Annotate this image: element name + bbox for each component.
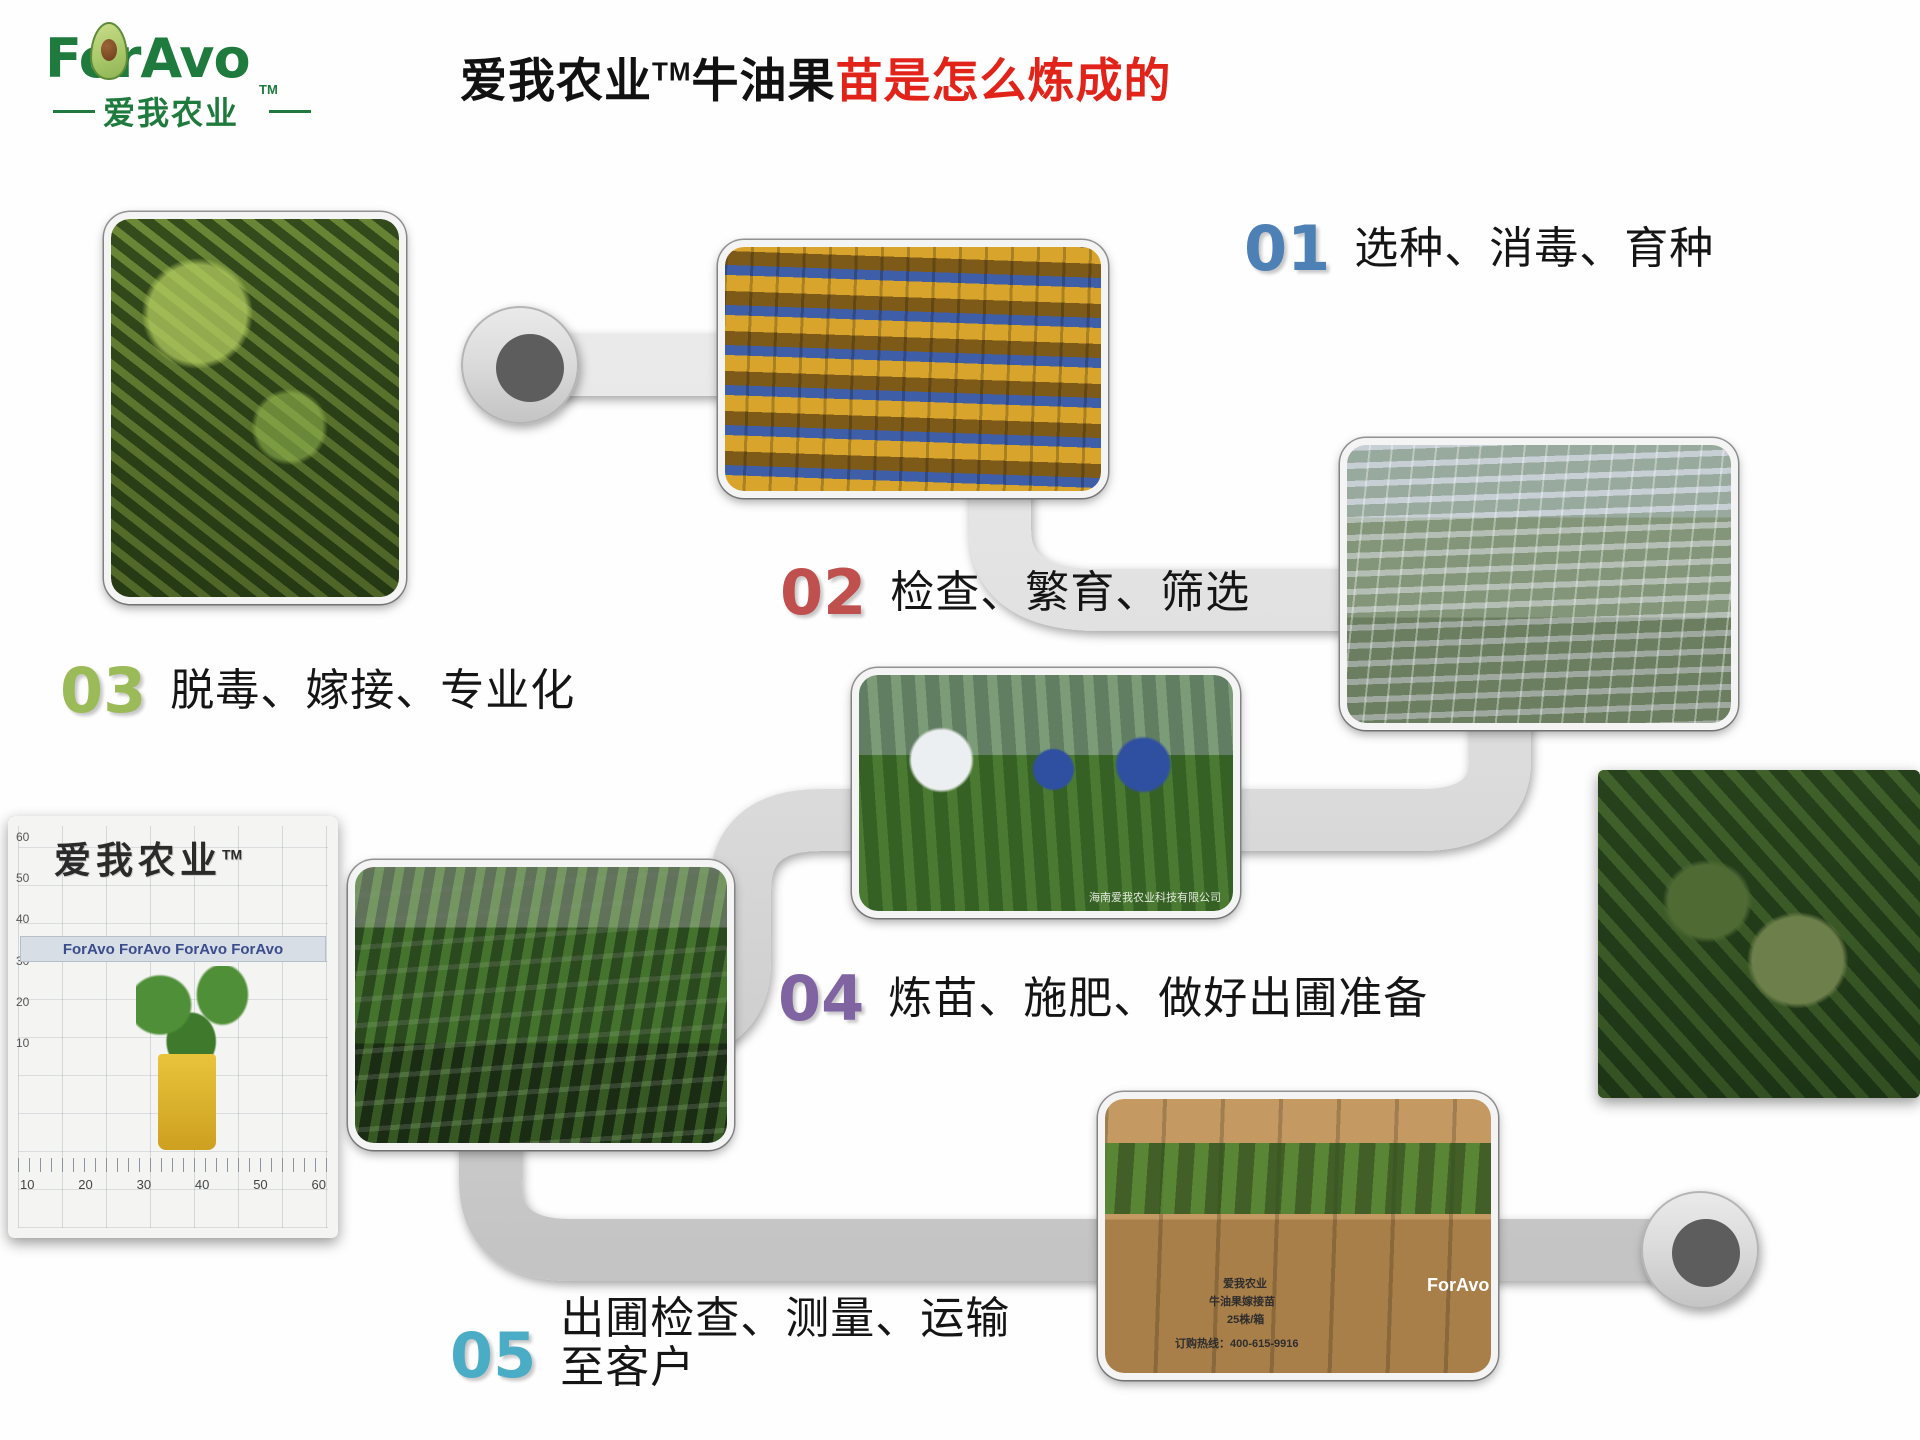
ruler-y-tick: 40 (16, 912, 29, 926)
step-01-number: 01 (1244, 218, 1330, 280)
page-title: 爱我农业TM牛油果苗是怎么炼成的 (460, 42, 1172, 111)
carton-brand-label: 爱我农业 (1223, 1275, 1267, 1291)
ruler-y-tick: 10 (16, 1036, 29, 1050)
potted-seedlings-nursery-photo (348, 860, 734, 1150)
measured-seedling-ruler-photo: 爱我农业TM 60 50 40 30 20 10 ForAvo ForAvo F… (8, 816, 338, 1238)
step-05-label-line2: 至客户 (560, 1343, 1010, 1392)
avocado-flower-branch-photo (104, 212, 406, 604)
avocado-fruit-on-tree-photo (1598, 770, 1920, 1098)
photo-surface (725, 247, 1101, 491)
title-part-mid: 牛油果 (692, 54, 836, 107)
ruler-x-tick: 50 (253, 1177, 267, 1192)
brand-logo: ForAvo 爱我农业 TM (45, 32, 315, 142)
ruler-x-tick: 60 (311, 1177, 325, 1192)
ruler-brand-text: 爱我农业TM (54, 830, 242, 884)
carton-product-label: 牛油果嫁接苗 (1209, 1293, 1275, 1309)
photo-surface (355, 867, 727, 1143)
ruler-y-tick: 50 (16, 871, 29, 885)
ruler-brand-tm: TM (222, 847, 242, 863)
logo-wordmark: ForAvo (45, 32, 250, 86)
title-trademark: TM (652, 56, 692, 86)
photo-surface (1598, 770, 1920, 1098)
ruler-y-tick: 20 (16, 995, 29, 1009)
step-04: 04 炼苗、施肥、做好出圃准备 (778, 968, 1428, 1030)
ruler-x-tick: 30 (137, 1177, 151, 1192)
logo-chinese-name: 爱我农业 (103, 88, 239, 134)
flow-end-dot (1672, 1219, 1740, 1287)
packed-cartons-shipping-photo: 爱我农业 牛油果嫁接苗 25株/箱 订购热线：400-615-9916 ForA… (1098, 1092, 1498, 1380)
step-05: 05 出圃检查、测量、运输 至客户 (450, 1288, 1010, 1393)
title-part-brand: 爱我农业 (460, 54, 652, 107)
ruler-tick-bar (18, 1158, 328, 1172)
step-01-label: 选种、消毒、育种 (1354, 218, 1714, 273)
logo-rule-left (53, 110, 95, 113)
photo-surface (1347, 445, 1731, 723)
ruler-brand-strip: ForAvo ForAvo ForAvo ForAvo (20, 936, 326, 962)
photo-surface: 海南爱我农业科技有限公司 (859, 675, 1233, 911)
step-05-label: 出圃检查、测量、运输 至客户 (560, 1288, 1010, 1393)
carton-foliage-band (1105, 1143, 1491, 1214)
step-02: 02 检查、繁育、筛选 (780, 562, 1250, 624)
step-05-number: 05 (450, 1325, 536, 1393)
carton-quantity-label: 25株/箱 (1227, 1311, 1264, 1327)
logo-trademark: TM (259, 82, 278, 97)
ruler-brand-label: 爱我农业 (54, 840, 222, 881)
logo-rule-right (269, 110, 311, 113)
photo-surface (111, 219, 399, 597)
title-part-highlight: 苗是怎么炼成的 (836, 54, 1172, 107)
step-04-label: 炼苗、施肥、做好出圃准备 (888, 968, 1428, 1023)
ruler-x-axis: 10 20 30 40 50 60 (20, 1177, 326, 1192)
carton-side-brand: ForAvo (1427, 1275, 1489, 1296)
greenhouse-grafting-bags-photo (1340, 438, 1738, 730)
step-03: 03 脱毒、嫁接、专业化 (60, 660, 575, 722)
infographic-canvas: ForAvo 爱我农业 TM 爱我农业TM牛油果苗是怎么炼成的 海南爱我农业科技… (0, 0, 1920, 1440)
ruler-x-tick: 40 (195, 1177, 209, 1192)
ruler-y-tick: 60 (16, 830, 29, 844)
step-03-number: 03 (60, 660, 146, 722)
photo-watermark: 海南爱我农业科技有限公司 (1089, 889, 1221, 905)
carton-hotline-label: 订购热线：400-615-9916 (1175, 1335, 1299, 1351)
seed-germination-trays-photo (718, 240, 1108, 498)
seedling-pot (158, 1054, 216, 1150)
step-04-number: 04 (778, 968, 864, 1030)
staff-inspecting-seedlings-photo: 海南爱我农业科技有限公司 (852, 668, 1240, 918)
ruler-x-tick: 10 (20, 1177, 34, 1192)
step-02-label: 检查、繁育、筛选 (890, 562, 1250, 617)
step-05-label-line1: 出圃检查、测量、运输 (560, 1294, 1010, 1343)
photo-surface: 爱我农业 牛油果嫁接苗 25株/箱 订购热线：400-615-9916 ForA… (1105, 1099, 1491, 1373)
step-02-number: 02 (780, 562, 866, 624)
photo-surface: 爱我农业TM 60 50 40 30 20 10 ForAvo ForAvo F… (8, 816, 338, 1238)
ruler-x-tick: 20 (78, 1177, 92, 1192)
step-01: 01 选种、消毒、育种 (1244, 218, 1714, 280)
flow-start-dot (496, 334, 564, 402)
step-03-label: 脱毒、嫁接、专业化 (170, 660, 575, 715)
